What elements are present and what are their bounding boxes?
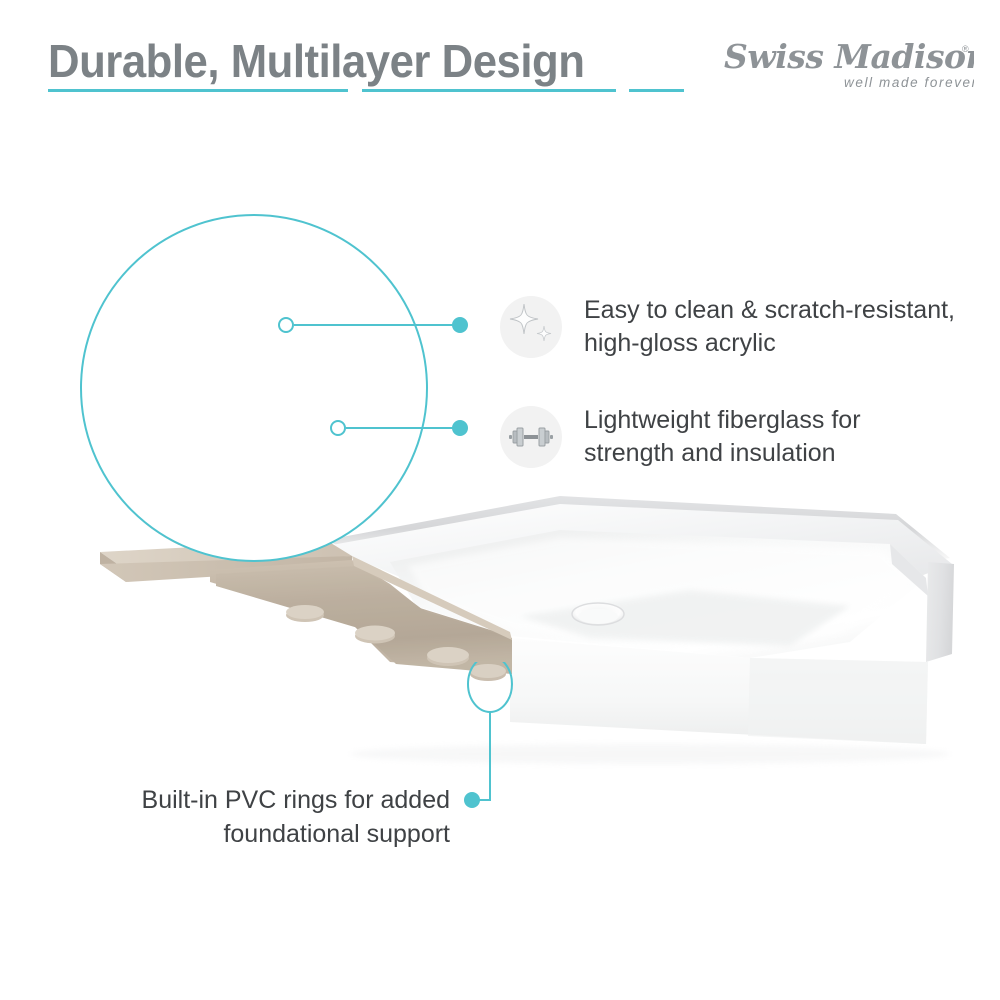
dumbbell-plate-right-outer [545,431,549,443]
pan-right-side-face [926,562,954,662]
brand-tagline-text: well made forever [844,75,974,90]
feature-row-fiberglass: Lightweight fiberglass for strength and … [500,404,956,469]
connector-line-acrylic [294,324,460,326]
brand-logo: Swiss Madison ® well made forever [722,34,974,96]
connector-line-pvc [478,712,490,800]
sparkle-large-star [510,304,538,334]
dumbbell-plate-left-inner [517,428,523,446]
pvc-ring-highlight-circle [468,662,512,712]
pan-cast-shadow [350,744,950,764]
title-underline-notch [616,89,629,92]
connector-ring-fiberglass [330,420,346,436]
dumbbell-cap-right [550,435,553,439]
sparkle-small-star [537,326,551,341]
feature-row-acrylic: Easy to clean & scratch-resistant, high-… [500,294,956,359]
dumbbell-cap-left [509,435,512,439]
magnifier-ring [80,214,428,562]
dumbbell-icon [500,406,562,468]
title-underline-notch [348,89,362,92]
title-underline-accent [48,89,684,92]
pvc-ring-top [355,626,395,641]
pan-front-apron-shade [748,658,928,744]
pvc-ring-top [286,605,324,619]
dumbbell-plate-right-inner [539,428,545,446]
feature-label: Easy to clean & scratch-resistant, high-… [584,294,956,359]
infographic-canvas: Durable, Multilayer Design Swiss Madison… [0,0,1000,1000]
connector-dot-acrylic [452,317,468,333]
connector-dot-fiberglass [452,420,468,436]
brand-name-text: Swiss Madison [724,37,974,76]
drain-hole [578,609,618,624]
page-title: Durable, Multilayer Design [48,34,584,88]
dumbbell-plate-left-outer [513,431,517,443]
connector-dot-pvc [464,792,480,808]
feature-label: Lightweight fiberglass for strength and … [584,404,956,469]
connector-line-fiberglass [346,427,460,429]
connector-ring-acrylic [278,317,294,333]
pvc-ring-top [427,647,469,663]
sparkle-icon [500,296,562,358]
registered-mark: ® [962,44,969,54]
dumbbell-bar [524,435,538,439]
caption-pvc-rings: Built-in PVC rings for added foundationa… [90,784,450,852]
